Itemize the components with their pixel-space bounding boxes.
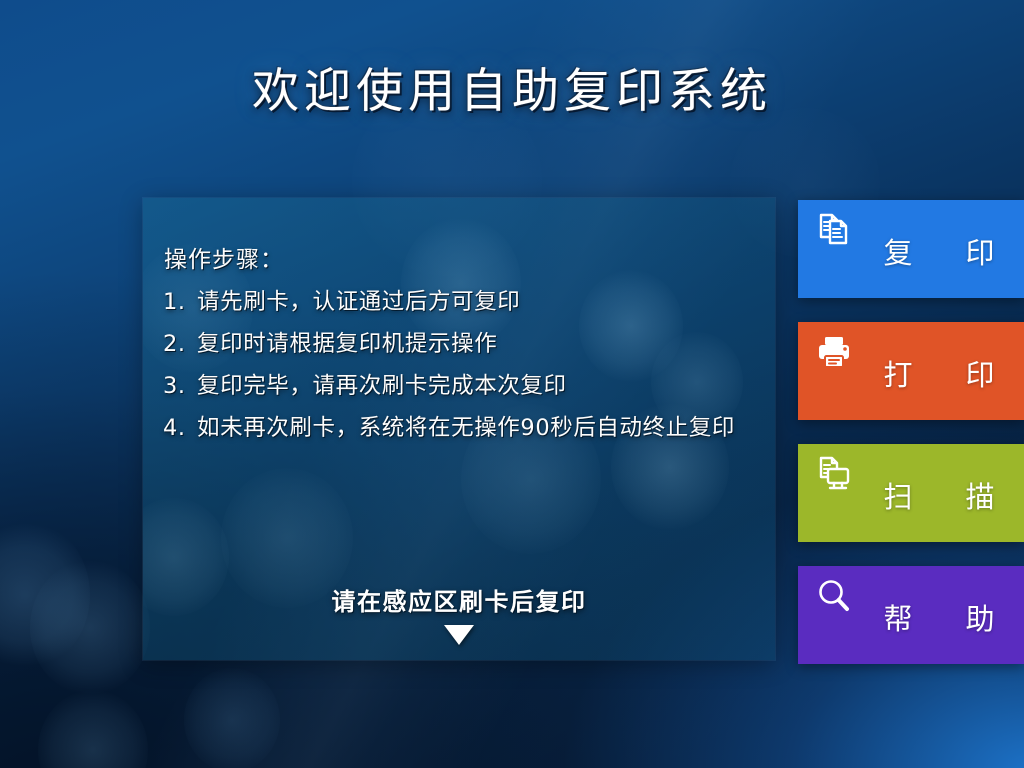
- swipe-card-prompt: 请在感应区刷卡后复印: [143, 582, 775, 645]
- step-number: 4.: [163, 415, 197, 441]
- prompt-text: 请在感应区刷卡后复印: [143, 582, 775, 617]
- print-button[interactable]: 打 印: [798, 322, 1024, 420]
- list-item: 3. 复印完毕，请再次刷卡完成本次复印: [163, 368, 765, 410]
- magnifier-icon: [814, 576, 854, 616]
- help-button[interactable]: 帮 助: [798, 566, 1024, 664]
- step-text: 请先刷卡，认证通过后方可复印: [197, 284, 520, 316]
- scanner-icon: [814, 454, 854, 494]
- triangle-down-icon: [444, 625, 474, 645]
- step-text: 复印时请根据复印机提示操作: [197, 326, 497, 358]
- printer-icon: [814, 332, 854, 372]
- steps-list: 1. 请先刷卡，认证通过后方可复印 2. 复印时请根据复印机提示操作 3. 复印…: [163, 284, 765, 452]
- bokeh-light: [0, 520, 90, 670]
- instructions-panel: 操作步骤： 1. 请先刷卡，认证通过后方可复印 2. 复印时请根据复印机提示操作…: [143, 198, 775, 660]
- scan-button-label: 扫 描: [864, 474, 1014, 516]
- list-item: 1. 请先刷卡，认证通过后方可复印: [163, 284, 765, 326]
- list-item: 2. 复印时请根据复印机提示操作: [163, 326, 765, 368]
- bokeh-light: [30, 560, 150, 695]
- copy-button-label: 复 印: [864, 230, 1014, 272]
- copy-button[interactable]: 复 印: [798, 200, 1024, 298]
- step-text: 复印完毕，请再次刷卡完成本次复印: [197, 368, 567, 400]
- list-item: 4. 如未再次刷卡，系统将在无操作90秒后自动终止复印: [163, 410, 765, 452]
- print-button-label: 打 印: [864, 352, 1014, 394]
- step-text: 如未再次刷卡，系统将在无操作90秒后自动终止复印: [197, 410, 735, 442]
- scan-button[interactable]: 扫 描: [798, 444, 1024, 542]
- copy-documents-icon: [814, 210, 854, 250]
- bokeh-light: [184, 668, 280, 768]
- step-number: 2.: [163, 331, 197, 357]
- kiosk-screen: 欢迎使用自助复印系统 操作步骤： 1. 请先刷卡，认证通过后方可复印 2. 复印…: [0, 0, 1024, 768]
- page-title: 欢迎使用自助复印系统: [0, 62, 1024, 122]
- instructions-panel-inner: 操作步骤： 1. 请先刷卡，认证通过后方可复印 2. 复印时请根据复印机提示操作…: [143, 198, 775, 660]
- steps-title: 操作步骤：: [164, 240, 284, 274]
- step-number: 3.: [163, 373, 197, 399]
- help-button-label: 帮 助: [864, 596, 1014, 638]
- bokeh-light: [38, 690, 148, 768]
- step-number: 1.: [163, 289, 197, 315]
